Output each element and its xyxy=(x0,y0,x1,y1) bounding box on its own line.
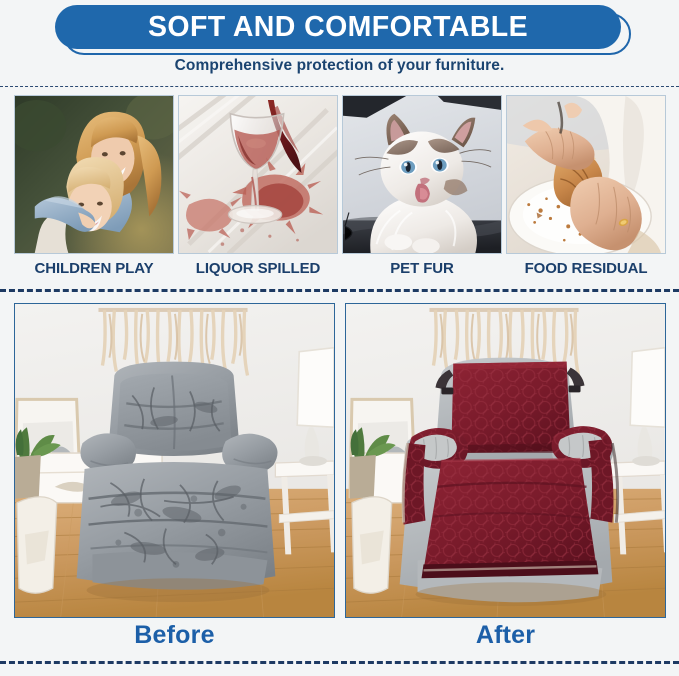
header-subtitle: Comprehensive protection of your furnitu… xyxy=(0,57,679,75)
cat-photo xyxy=(342,95,502,254)
compare-label-before: Before xyxy=(14,621,335,650)
feature-item-children-play: CHILDREN PLAY xyxy=(14,95,174,277)
divider-middle xyxy=(0,289,679,292)
divider-top xyxy=(0,86,679,87)
compare-label-after: After xyxy=(345,621,666,650)
banner-fill-shape: SOFT AND COMFORTABLE xyxy=(55,5,621,49)
compare-panel-before: Before xyxy=(14,303,335,650)
compare-panel-after: After xyxy=(345,303,666,650)
feature-caption: FOOD RESIDUAL xyxy=(506,260,666,277)
header: SOFT AND COMFORTABLE Comprehensive prote… xyxy=(0,0,679,84)
before-after-section: Before xyxy=(0,303,679,653)
wine-spill-photo xyxy=(178,95,338,254)
children-hugging-photo xyxy=(14,95,174,254)
feature-caption: LIQUOR SPILLED xyxy=(178,260,338,277)
burgundy-covered-recliner-photo xyxy=(345,303,666,618)
feature-item-pet-fur: PET FUR xyxy=(342,95,502,277)
banner-title: SOFT AND COMFORTABLE xyxy=(148,13,528,42)
feature-item-food-residual: FOOD RESIDUAL xyxy=(506,95,666,277)
feature-strip: CHILDREN PLAY xyxy=(0,95,679,285)
divider-bottom xyxy=(0,661,679,664)
food-crumbs-photo xyxy=(506,95,666,254)
feature-item-liquor-spilled: LIQUOR SPILLED xyxy=(178,95,338,277)
dirty-gray-recliner-photo xyxy=(14,303,335,618)
feature-caption: PET FUR xyxy=(342,260,502,277)
feature-caption: CHILDREN PLAY xyxy=(14,260,174,277)
header-banner: SOFT AND COMFORTABLE xyxy=(55,5,627,53)
